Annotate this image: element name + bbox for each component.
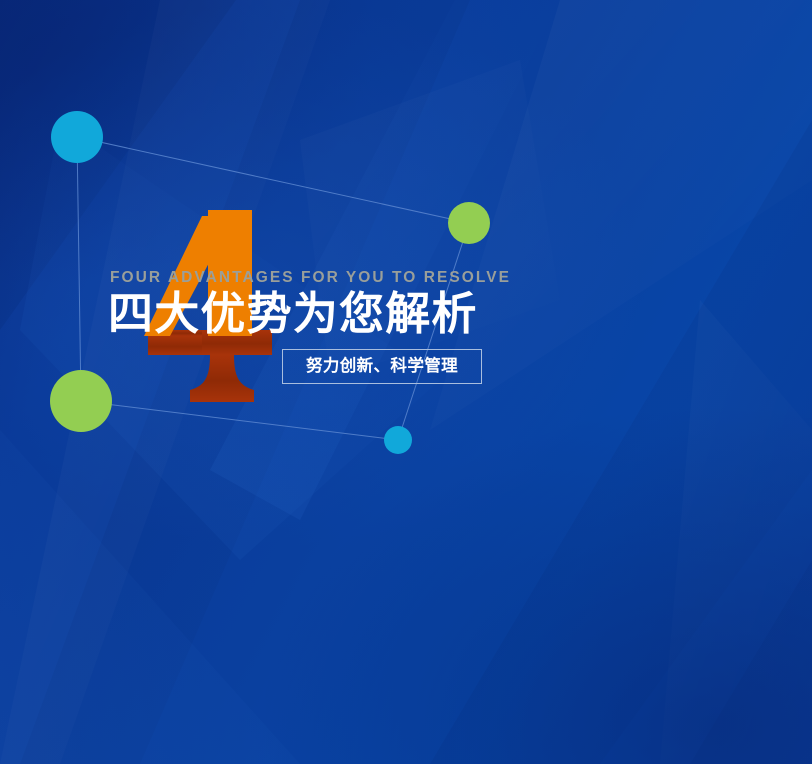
tagline-badge: 努力创新、科学管理	[282, 349, 482, 384]
promo-banner: FOUR ADVANTAGES FOR YOU TO RESOLVE 四大优势为…	[0, 0, 812, 764]
tagline-text: 努力创新、科学管理	[306, 358, 458, 375]
eyebrow-text: FOUR ADVANTAGES FOR YOU TO RESOLVE	[110, 270, 511, 286]
page-title: 四大优势为您解析	[108, 289, 478, 339]
